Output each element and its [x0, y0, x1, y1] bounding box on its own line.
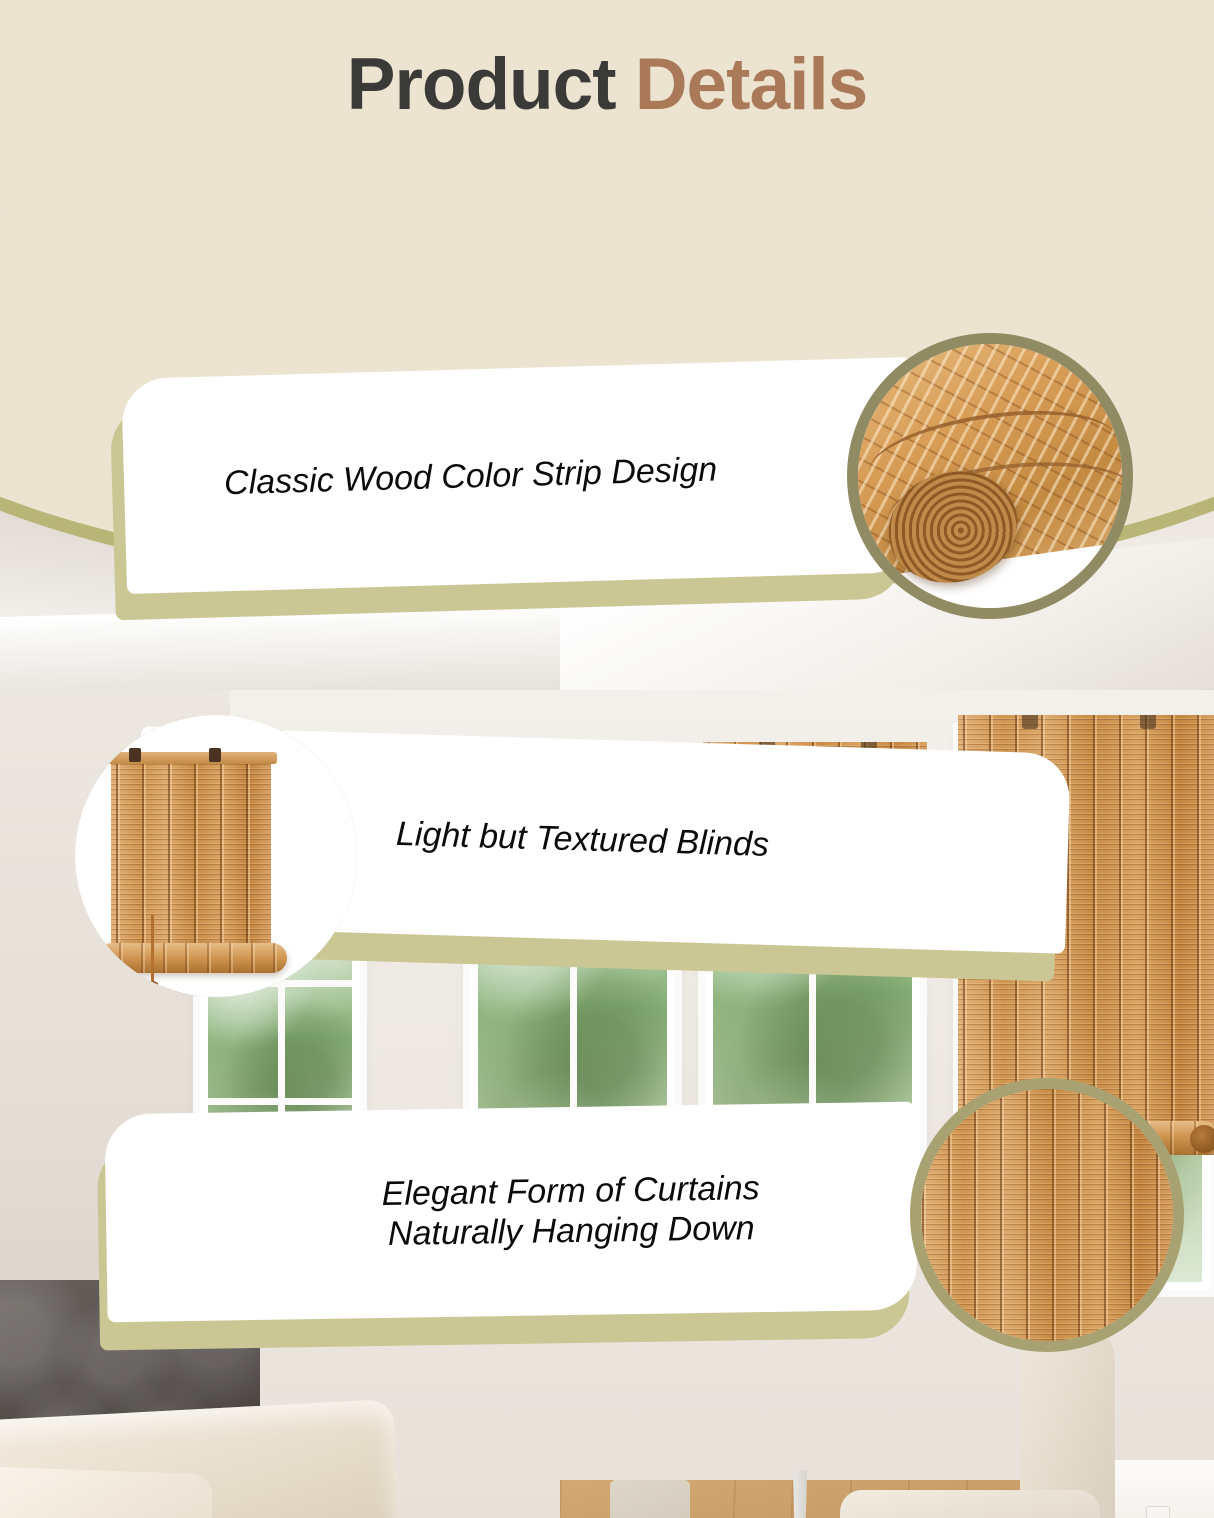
feature-1-text: Classic Wood Color Strip Design: [121, 357, 917, 594]
circle-mask: [75, 715, 357, 997]
blind-bracket: [1022, 715, 1038, 729]
blind-pull-cord: [151, 915, 154, 985]
blind-bottom-roll: [97, 943, 287, 973]
header-bar: Product Details: [0, 0, 1214, 215]
feature-banner-3[interactable]: Elegant Form of Curtains Naturally Hangi…: [104, 1102, 917, 1323]
blind-bracket: [129, 748, 141, 762]
page-title: Product Details: [0, 48, 1214, 121]
chair-seat: [840, 1490, 1100, 1518]
page-title-secondary: Details: [635, 44, 867, 125]
feature-2-image-circle[interactable]: [75, 715, 357, 997]
page-title-primary: Product: [347, 44, 616, 125]
accent-chair: [830, 1460, 1130, 1518]
blind-bracket: [1140, 715, 1156, 729]
window-mullion: [208, 1098, 352, 1105]
feature-3-line-1: Elegant Form of Curtains: [381, 1168, 760, 1214]
feature-3-line-2: Naturally Hanging Down: [388, 1208, 755, 1254]
bamboo-texture-image: [917, 1085, 1177, 1345]
feature-3-image-circle[interactable]: [910, 1078, 1184, 1352]
blind-tassel-icon: [145, 981, 159, 997]
hanging-bamboo-blind-image: [111, 760, 271, 955]
feature-banner-1[interactable]: Classic Wood Color Strip Design: [121, 357, 917, 594]
blind-knob-icon: [1190, 1125, 1214, 1153]
blind-bracket: [209, 748, 221, 762]
bed-accent-pillow: [0, 1466, 213, 1518]
wall-outlet-icon: [1146, 1506, 1170, 1518]
feature-3-text-block: Elegant Form of Curtains Naturally Hangi…: [104, 1102, 917, 1323]
infographic-canvas: Product Details Classic Wood Color Strip…: [0, 0, 1214, 1518]
dining-chair-back: [610, 1480, 690, 1518]
feature-1-image-circle[interactable]: [847, 333, 1133, 619]
